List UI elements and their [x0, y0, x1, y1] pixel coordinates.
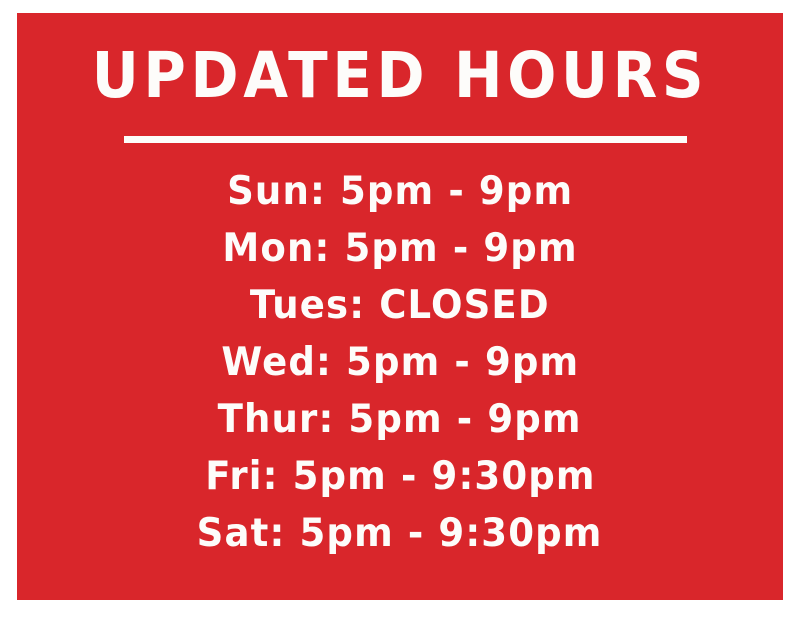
hours-row-tues: Tues: CLOSED: [250, 283, 550, 328]
list-item: Tues: CLOSED: [17, 277, 783, 334]
title-divider: [124, 136, 687, 143]
hours-row-thur: Thur: 5pm - 9pm: [218, 397, 582, 442]
list-item: Mon: 5pm - 9pm: [17, 220, 783, 277]
hours-row-mon: Mon: 5pm - 9pm: [222, 226, 577, 271]
list-item: Wed: 5pm - 9pm: [17, 334, 783, 391]
hours-row-sat: Sat: 5pm - 9:30pm: [197, 511, 603, 556]
list-item: Sat: 5pm - 9:30pm: [17, 505, 783, 562]
hours-row-sun: Sun: 5pm - 9pm: [227, 169, 573, 214]
list-item: Thur: 5pm - 9pm: [17, 391, 783, 448]
list-item: Fri: 5pm - 9:30pm: [17, 448, 783, 505]
hours-list: Sun: 5pm - 9pm Mon: 5pm - 9pm Tues: CLOS…: [17, 163, 783, 562]
hours-row-wed: Wed: 5pm - 9pm: [221, 340, 579, 385]
hours-row-fri: Fri: 5pm - 9:30pm: [205, 454, 595, 499]
hours-poster-panel: UPDATED HOURS Sun: 5pm - 9pm Mon: 5pm - …: [17, 13, 783, 600]
page-title: UPDATED HOURS: [48, 43, 753, 109]
sign-canvas: UPDATED HOURS Sun: 5pm - 9pm Mon: 5pm - …: [0, 0, 800, 618]
list-item: Sun: 5pm - 9pm: [17, 163, 783, 220]
